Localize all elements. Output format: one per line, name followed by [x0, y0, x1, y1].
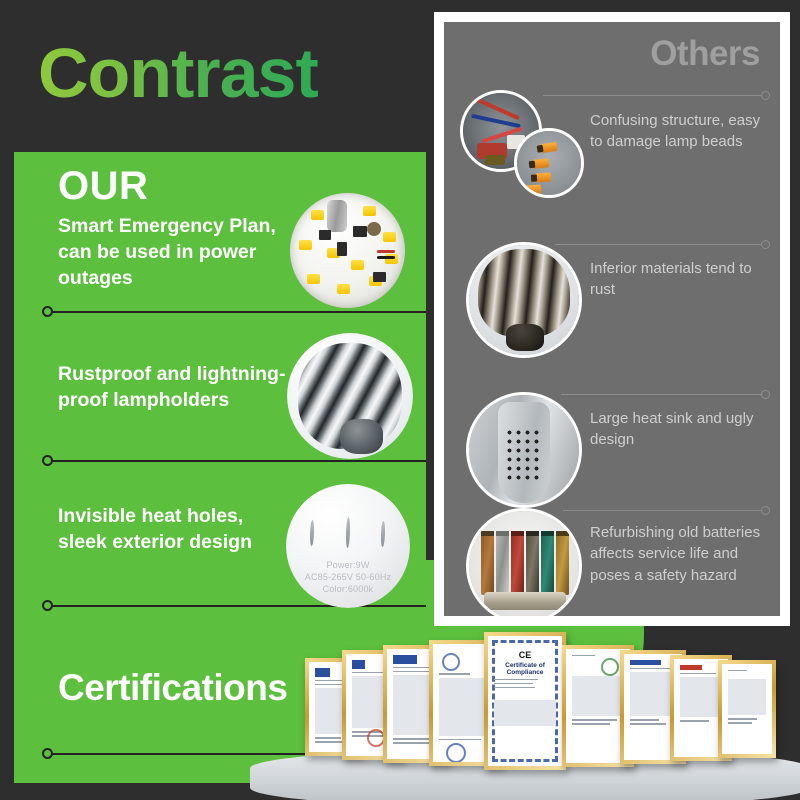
divider-line — [561, 394, 761, 396]
contrast-infographic: Contrast OUR Smart Emergency Plan, can b… — [0, 0, 800, 800]
others-divider-0 — [540, 91, 770, 100]
divider-line — [555, 244, 761, 246]
others-item-text-0: Confusing structure, easy to damage lamp… — [590, 110, 774, 153]
certificate-document — [718, 660, 776, 758]
corroded-batteries-photo — [466, 508, 582, 616]
others-divider-2 — [558, 390, 770, 399]
ce-badge: CE — [488, 650, 562, 660]
others-panel: Others Confusing structure, easy to dama… — [444, 22, 780, 616]
others-panel-label: Others — [650, 34, 760, 74]
others-item-text-3: Refurbishing old batteries affects servi… — [590, 522, 774, 586]
bullet-dot-icon — [761, 390, 770, 399]
bullet-dot-icon — [761, 240, 770, 249]
rusted-screw-base-photo — [466, 242, 582, 358]
bullet-dot-icon — [761, 91, 770, 100]
divider-line — [543, 95, 761, 97]
divider-line — [563, 510, 761, 512]
others-divider-3 — [560, 506, 770, 515]
others-divider-1 — [552, 240, 770, 249]
others-item-text-1: Inferior materials tend to rust — [590, 258, 774, 301]
others-item-text-2: Large heat sink and ugly design — [590, 408, 774, 451]
lamp-beads-photo — [514, 128, 584, 198]
bullet-dot-icon — [761, 506, 770, 515]
others-panel-frame: Others Confusing structure, easy to dama… — [434, 12, 790, 626]
certificate-ce-document: CE Certificate of Compliance — [484, 632, 566, 770]
heat-sink-holes-photo — [466, 392, 582, 508]
ce-title: Certificate of Compliance — [488, 662, 562, 676]
